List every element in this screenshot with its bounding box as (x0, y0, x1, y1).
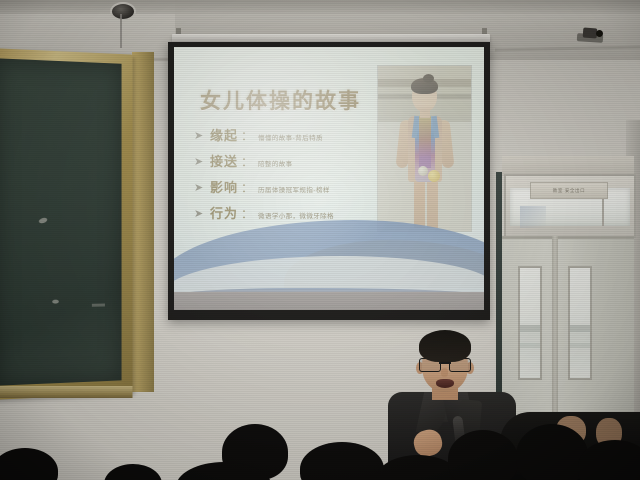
ceiling-strip (0, 0, 640, 14)
bullet-arrow-icon: ➤ (194, 129, 210, 142)
chalk-mark (52, 300, 59, 304)
bullet-subtext: 懵懂的故事-背后特质 (256, 132, 323, 142)
presenter-mouth (436, 379, 454, 388)
list-item: ➤ 缘起 ： 懵懂的故事-背后特质 (194, 125, 394, 144)
speaker-wire (120, 14, 122, 48)
presenter-nose (441, 368, 448, 377)
bullet-label: 行为 (210, 203, 238, 222)
bullet-colon: ： (238, 205, 256, 222)
audience-head (448, 430, 518, 480)
bullet-colon: ： (238, 179, 256, 196)
photo-projection-wash (378, 66, 471, 231)
window-band (570, 325, 590, 332)
chalk-mark (38, 217, 48, 224)
door-window-right (568, 266, 592, 380)
camera-lens-icon (596, 30, 603, 37)
presentation-slide: 女儿体操的故事 ➤ 缘起 ： 懵懂的故事-背后特质 ➤ 接送 ： 陪整的故事 (174, 47, 484, 310)
bullet-label: 缘起 (210, 125, 238, 144)
list-item: ➤ 影响 ： 历届体操冠军规指-榜样 (194, 177, 394, 196)
glass-reflection (520, 206, 546, 228)
chalkboard (0, 48, 133, 400)
slide-bullet-list: ➤ 缘起 ： 懵懂的故事-背后特质 ➤ 接送 ： 陪整的故事 ➤ 影响 (194, 125, 394, 229)
bullet-label: 影响 (210, 177, 238, 196)
bullet-arrow-icon: ➤ (194, 155, 210, 168)
list-item: ➤ 接送 ： 陪整的故事 (194, 151, 394, 170)
bullet-colon: ： (238, 127, 256, 144)
door-sign: 教室 安全出口 (530, 182, 608, 199)
slide-photo-gymnast (377, 65, 472, 232)
chalkboard-surface (0, 58, 122, 385)
slide-title: 女儿体操的故事 (200, 85, 361, 115)
projector-screen: 女儿体操的故事 ➤ 缘起 ： 懵懂的故事-背后特质 ➤ 接送 ： 陪整的故事 (168, 42, 490, 320)
slide-footer-band (174, 292, 484, 310)
door-sign-text: 教室 安全出口 (553, 188, 585, 194)
projector-screen-surface: 女儿体操的故事 ➤ 缘起 ： 懵懂的故事-背后特质 ➤ 接送 ： 陪整的故事 (174, 47, 484, 310)
door-header (502, 156, 634, 176)
presenter-hair (419, 330, 471, 362)
classroom-photo: 教室 安全出口 女儿体操的故事 ➤ 缘起 (0, 0, 640, 480)
window-band (520, 325, 540, 332)
bullet-colon: ： (238, 153, 256, 170)
window-band (520, 343, 540, 348)
bullet-subtext: 历届体操冠军规指-榜样 (256, 184, 330, 194)
bullet-label: 接送 (210, 151, 238, 170)
bullet-arrow-icon: ➤ (194, 181, 210, 194)
bullet-arrow-icon: ➤ (194, 207, 210, 220)
chalk-mark (92, 304, 105, 307)
ceiling-speaker-icon (110, 2, 136, 21)
chalkboard-second-panel (132, 52, 154, 392)
bullet-subtext: 陪整的故事 (256, 158, 293, 168)
glasses-bridge (439, 362, 451, 364)
bullet-subtext: 微语学小那，微微牙除格 (256, 210, 334, 220)
chalkboard-ledge (0, 386, 132, 398)
window-band (570, 343, 590, 348)
